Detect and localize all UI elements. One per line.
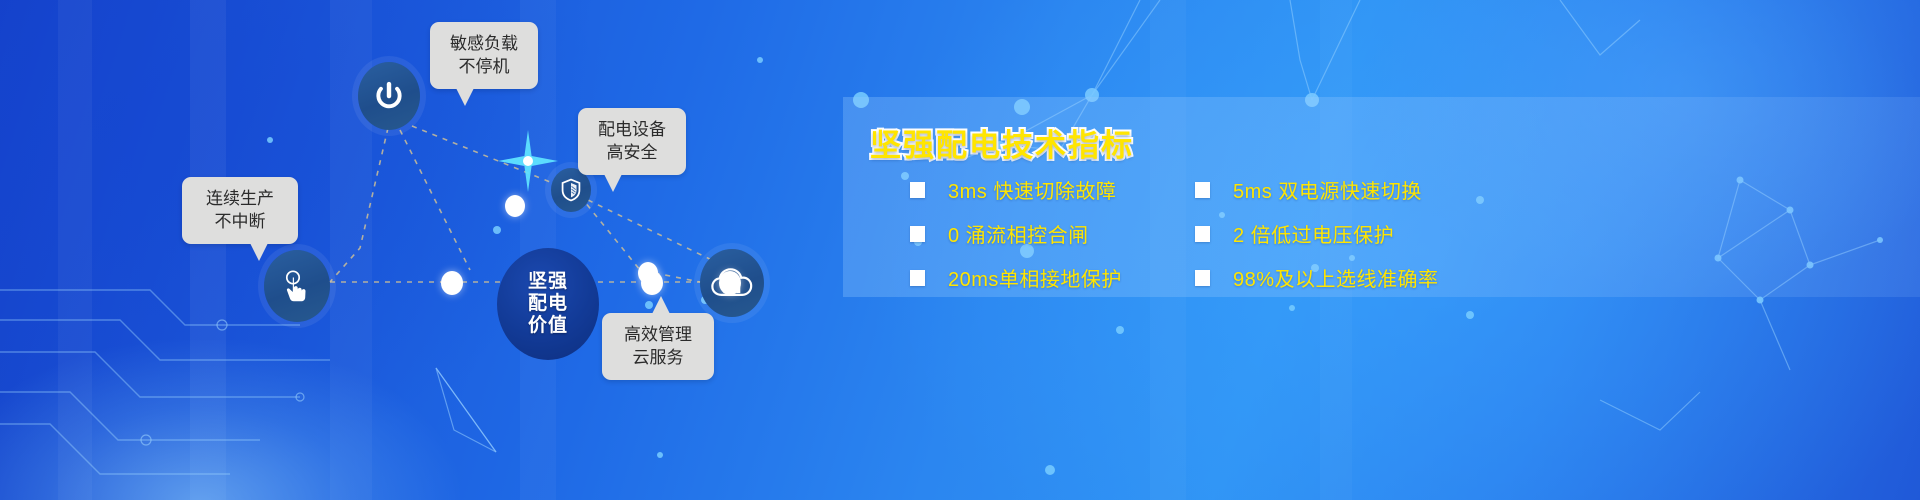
spec-text: 5ms 双电源快速切换 <box>1233 175 1422 204</box>
spec-text: 20ms单相接地保护 <box>948 263 1122 292</box>
bullet-marker-icon <box>1195 270 1210 286</box>
hand-touch-icon <box>280 268 314 304</box>
bullet-marker-icon <box>910 270 925 286</box>
spec-text: 0 涌流相控合闸 <box>948 219 1089 248</box>
connector-dot-5 <box>719 271 741 295</box>
bullet-marker-icon <box>910 226 925 242</box>
bubble-cloud-service: 高效管理 云服务 <box>602 313 714 380</box>
panel-title: 坚强配电技术指标 <box>870 120 1134 165</box>
center-node: 坚强 配电 价值 <box>497 248 599 360</box>
spec-text: 98%及以上选线准确率 <box>1233 263 1439 292</box>
bullet-marker-icon <box>910 182 925 198</box>
spec-item: 3ms 快速切除故障 <box>910 175 1195 204</box>
specs-panel: 坚强配电技术指标 3ms 快速切除故障 5ms 双电源快速切换 0 涌流相控合闸… <box>843 97 1920 297</box>
power-button-icon <box>372 79 406 113</box>
bullet-marker-icon <box>1195 182 1210 198</box>
value-diagram: 坚强 配电 价值 敏感负载 不停机 配电设备 高安全 连续生产 不中断 高效管理… <box>0 0 960 500</box>
spec-text: 2 倍低过电压保护 <box>1233 219 1394 248</box>
spec-item: 0 涌流相控合闸 <box>910 219 1195 248</box>
bullet-marker-icon <box>1195 226 1210 242</box>
shield-icon <box>560 178 582 202</box>
connector-dot-4 <box>638 262 658 284</box>
banner-root: 坚强 配电 价值 敏感负载 不停机 配电设备 高安全 连续生产 不中断 高效管理… <box>0 0 1920 500</box>
spec-item: 5ms 双电源快速切换 <box>1195 175 1480 204</box>
specs-list: 3ms 快速切除故障 5ms 双电源快速切换 0 涌流相控合闸 2 倍低过电压保… <box>910 175 1910 292</box>
center-node-line-1: 坚强 <box>528 271 568 293</box>
spec-item: 20ms单相接地保护 <box>910 263 1195 292</box>
bubble-sensitive-load: 敏感负载 不停机 <box>430 22 538 89</box>
node-power[interactable] <box>358 62 420 130</box>
connector-dot-1 <box>441 271 463 295</box>
spec-item: 2 倍低过电压保护 <box>1195 219 1480 248</box>
spec-item: 98%及以上选线准确率 <box>1195 263 1480 292</box>
center-node-line-2: 配电 <box>528 293 568 315</box>
connector-dot-3 <box>505 195 525 217</box>
spec-text: 3ms 快速切除故障 <box>948 175 1116 204</box>
center-node-line-3: 价值 <box>528 315 568 337</box>
sparkle-icon <box>498 130 558 192</box>
bubble-continuous-production: 连续生产 不中断 <box>182 177 298 244</box>
node-touch[interactable] <box>264 250 330 322</box>
bubble-equipment-safety: 配电设备 高安全 <box>578 108 686 175</box>
